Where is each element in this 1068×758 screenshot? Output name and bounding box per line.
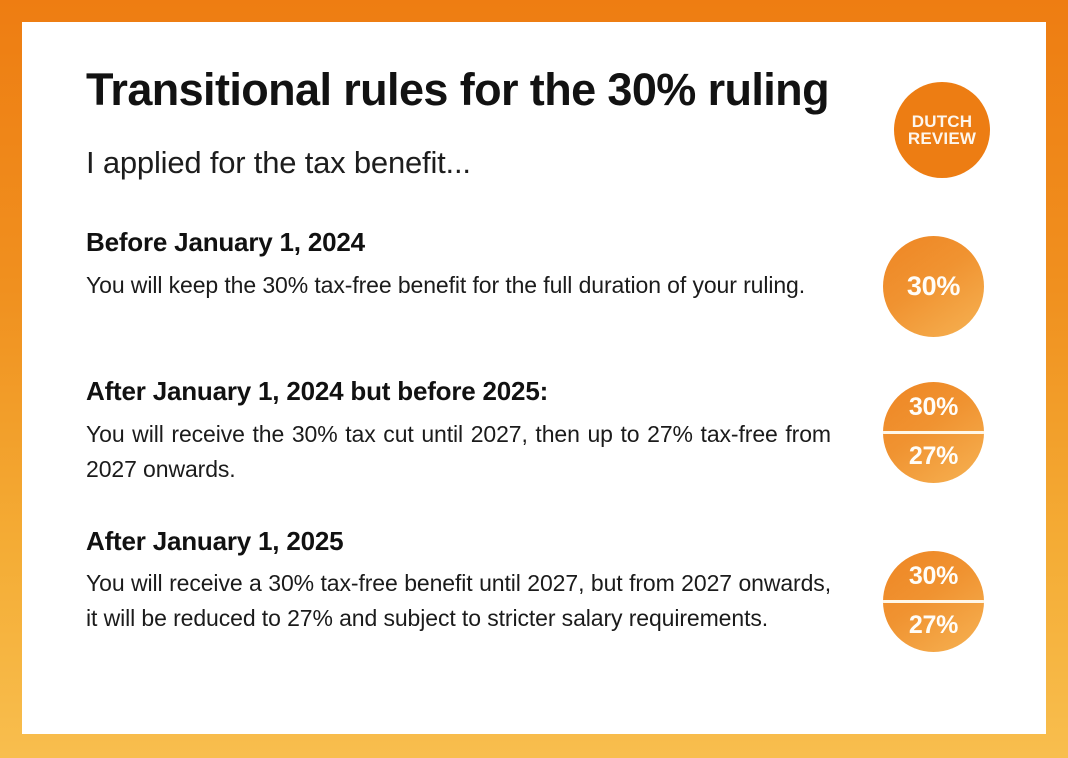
page-title: Transitional rules for the 30% ruling xyxy=(86,66,984,115)
rule-heading: After January 1, 2025 xyxy=(86,527,831,557)
dutch-review-logo: DUTCH REVIEW xyxy=(894,82,990,178)
rules-list: Before January 1, 2024 You will keep the… xyxy=(86,228,984,652)
header: Transitional rules for the 30% ruling I … xyxy=(86,66,984,181)
rule-badge-wrap: 30% 27% xyxy=(831,527,984,652)
badge-divider xyxy=(883,431,984,434)
rule-body: You will keep the 30% tax-free benefit f… xyxy=(86,268,831,303)
rule-text-block: Before January 1, 2024 You will keep the… xyxy=(86,228,831,303)
rule-body: You will receive the 30% tax cut until 2… xyxy=(86,417,831,487)
percentage-badge-split: 30% 27% xyxy=(883,551,984,652)
badge-value-bottom: 27% xyxy=(909,444,958,469)
rule-badge-wrap: 30% xyxy=(831,228,984,337)
badge-value-top: 30% xyxy=(909,395,958,420)
badge-value-bottom: 27% xyxy=(909,613,958,638)
percentage-badge: 30% xyxy=(883,236,984,337)
badge-value-top: 30% xyxy=(907,273,960,300)
badge-divider xyxy=(883,600,984,603)
logo-line-1: DUTCH xyxy=(912,113,973,130)
page-subtitle: I applied for the tax benefit... xyxy=(86,144,984,181)
rule-text-block: After January 1, 2025 You will receive a… xyxy=(86,527,831,637)
rule-heading: Before January 1, 2024 xyxy=(86,228,831,258)
rule-text-block: After January 1, 2024 but before 2025: Y… xyxy=(86,377,831,487)
white-card: Transitional rules for the 30% ruling I … xyxy=(22,22,1046,734)
rule-heading: After January 1, 2024 but before 2025: xyxy=(86,377,831,407)
logo-line-2: REVIEW xyxy=(908,130,976,147)
badge-value-top: 30% xyxy=(909,564,958,589)
rule-row: Before January 1, 2024 You will keep the… xyxy=(86,228,984,337)
infographic-poster: Transitional rules for the 30% ruling I … xyxy=(0,0,1068,758)
rule-row: After January 1, 2024 but before 2025: Y… xyxy=(86,377,984,487)
percentage-badge-split: 30% 27% xyxy=(883,382,984,483)
rule-body: You will receive a 30% tax-free benefit … xyxy=(86,566,831,636)
rule-badge-wrap: 30% 27% xyxy=(831,377,984,483)
rule-row: After January 1, 2025 You will receive a… xyxy=(86,527,984,652)
